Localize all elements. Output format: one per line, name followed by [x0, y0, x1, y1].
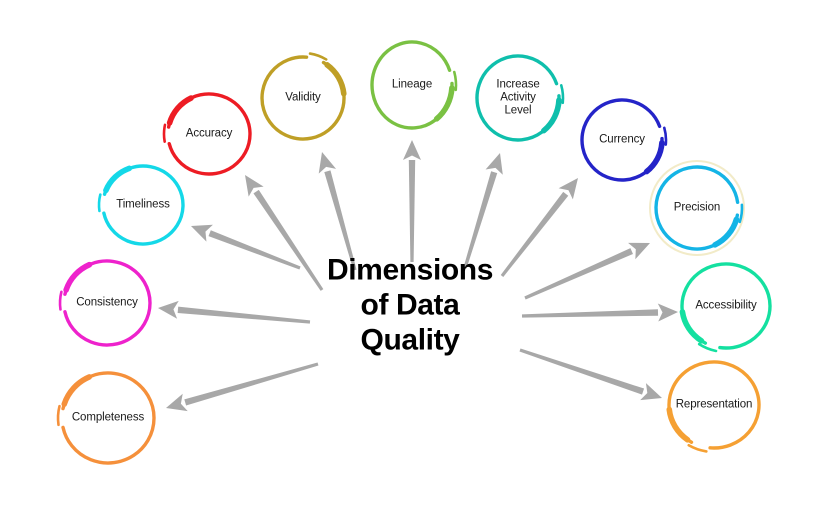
- ring-tail-consistency: [60, 292, 61, 310]
- ring-tail-validity: [310, 54, 326, 60]
- ring-tail-precision: [740, 205, 742, 222]
- center-title: Dimensions of Data Quality: [327, 253, 493, 358]
- ring-tail-completeness: [58, 406, 59, 425]
- ring-tail-accessibility: [699, 344, 716, 351]
- arrow-to-accuracy: [245, 175, 323, 291]
- ring-accent-completeness: [64, 377, 89, 404]
- ring-tail-representation: [689, 445, 707, 451]
- ring-accent-increase-activity-level: [544, 100, 559, 130]
- arrow-to-representation: [519, 348, 662, 400]
- arrow-to-completeness: [166, 362, 318, 411]
- ring-accent-validity: [327, 65, 344, 94]
- ring-accent-consistency: [66, 265, 89, 290]
- dimensions-of-data-quality-diagram: TimelinessAccuracyValidityLineageIncreas…: [0, 0, 813, 515]
- arrow-to-increase-activity-level: [463, 153, 502, 268]
- ring-accent-timeliness: [106, 168, 129, 190]
- arrow-to-precision: [524, 243, 650, 300]
- ring-tail-timeliness: [99, 195, 100, 211]
- arrow-to-currency: [501, 178, 578, 277]
- ring-accent-precision: [715, 219, 736, 245]
- ring-accent-representation: [669, 409, 687, 439]
- arrow-to-lineage: [403, 140, 421, 262]
- ring-accent-accuracy: [170, 98, 191, 123]
- ring-accent-accessibility: [682, 312, 701, 341]
- ring-accent-lineage: [437, 88, 452, 119]
- ring-tail-accuracy: [164, 125, 165, 142]
- ring-accent-currency: [647, 143, 662, 172]
- arrow-to-accessibility: [522, 304, 678, 322]
- arrow-to-consistency: [158, 301, 310, 324]
- halo-ring-precision: [650, 161, 744, 255]
